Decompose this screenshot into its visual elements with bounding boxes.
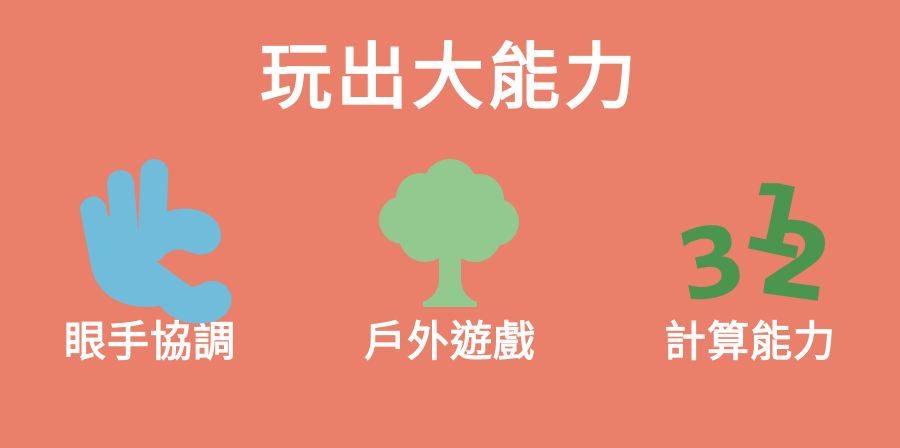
feature-label-outdoor-play: 戶外遊戲 xyxy=(364,316,536,368)
tree-icon xyxy=(365,150,535,310)
feature-outdoor-play[interactable]: 戶外遊戲 xyxy=(310,150,590,390)
feature-list: 眼手協調 xyxy=(0,150,900,390)
feature-numeracy[interactable]: 1 2 3 計算能力 xyxy=(610,150,890,390)
feature-hand-eye-coordination[interactable]: 眼手協調 xyxy=(10,150,290,390)
numbers-123-icon: 1 2 3 xyxy=(665,150,835,310)
promo-banner: 玩出大能力 xyxy=(0,0,900,448)
number-2-glyph: 2 xyxy=(752,196,841,327)
ok-hand-icon xyxy=(65,150,235,310)
page-title: 玩出大能力 xyxy=(0,34,900,120)
feature-label-hand-eye-coordination: 眼手協調 xyxy=(64,316,236,368)
